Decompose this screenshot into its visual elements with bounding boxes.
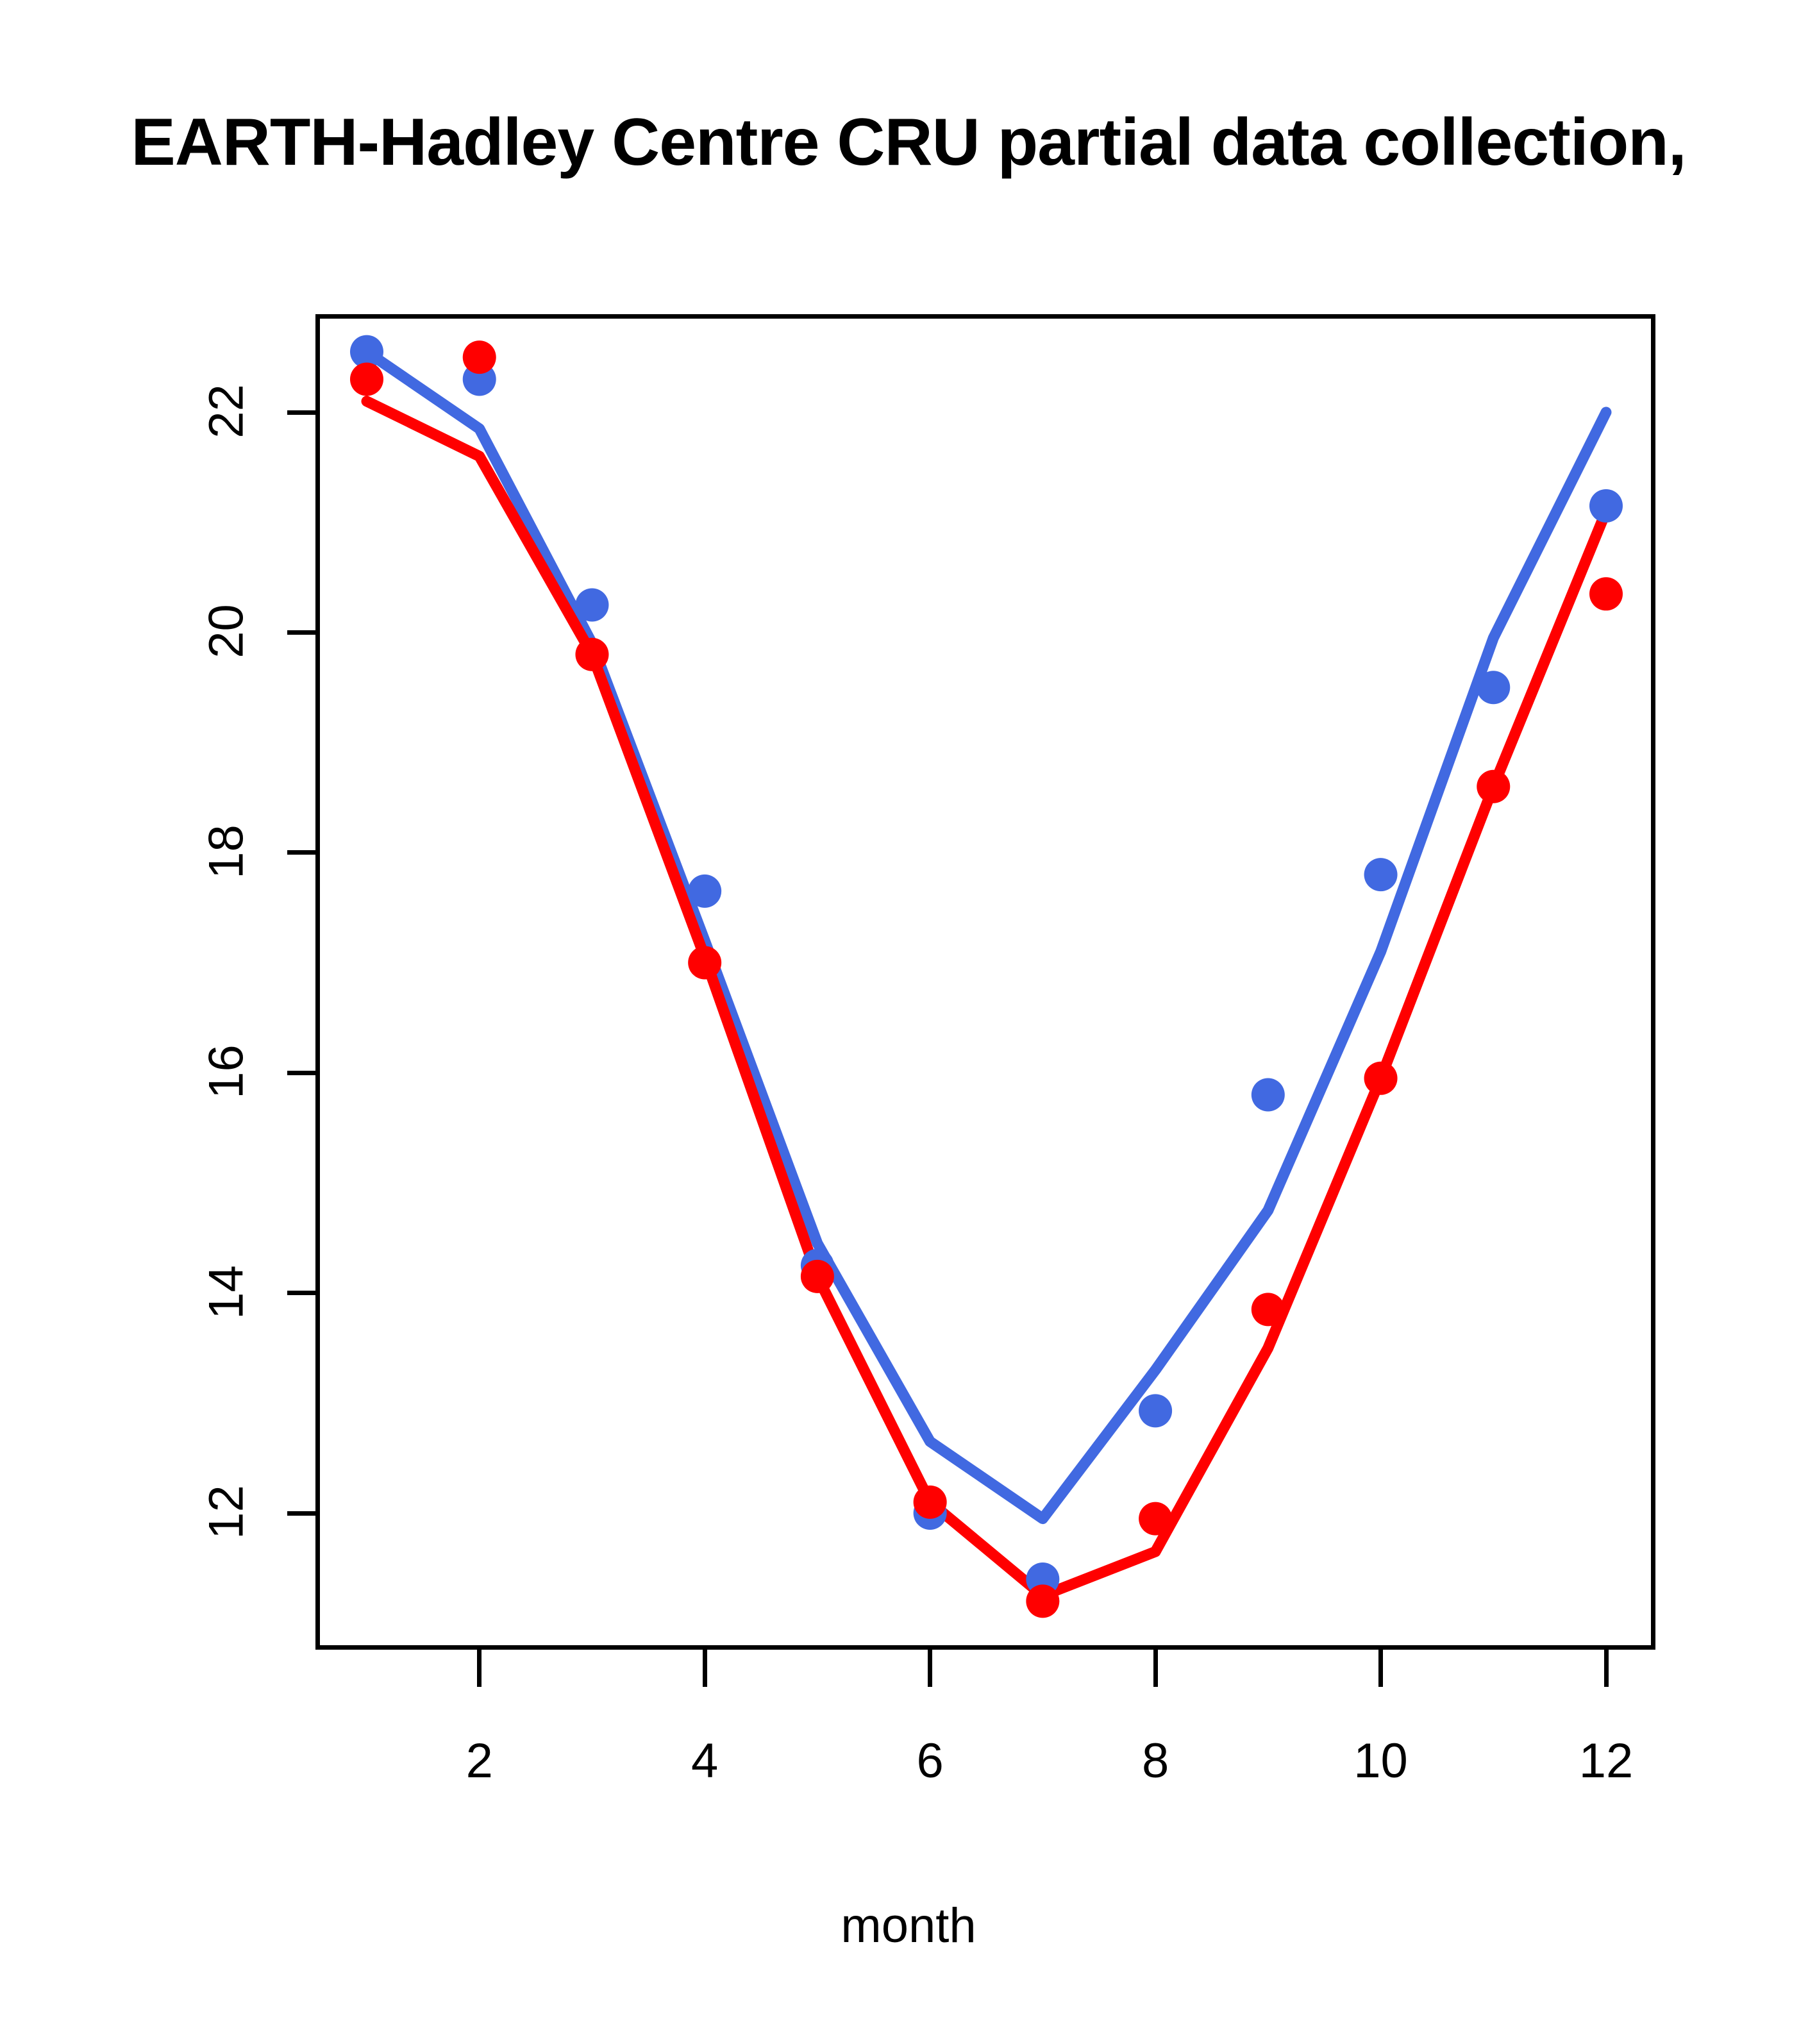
chart-page: EARTH-Hadley Centre CRU partial data col… [0,0,1817,2044]
x-tick-mark [477,1650,481,1687]
y-tick-mark [287,1071,315,1075]
y-tick-label: 22 [199,354,255,469]
y-tick-label: 14 [199,1234,255,1350]
y-tick-label: 18 [199,794,255,909]
plot-frame [315,314,1655,1650]
x-tick-label: 12 [1579,1733,1634,1789]
y-tick-label: 20 [199,574,255,689]
y-tick-mark [287,850,315,855]
y-tick-mark [287,410,315,415]
x-axis-label: month [841,1898,976,1954]
x-tick-label: 4 [691,1733,718,1789]
x-tick-label: 6 [916,1733,943,1789]
x-tick-mark [1378,1650,1383,1687]
x-tick-mark [1604,1650,1609,1687]
x-tick-label: 10 [1353,1733,1408,1789]
x-tick-label: 2 [466,1733,493,1789]
x-tick-mark [1153,1650,1158,1687]
y-tick-mark [287,1291,315,1295]
y-tick-mark [287,630,315,635]
x-tick-mark [703,1650,707,1687]
plot-region: 121416182022 24681012 month [0,0,1817,2044]
x-tick-label: 8 [1142,1733,1169,1789]
y-tick-label: 16 [199,1014,255,1130]
y-tick-label: 12 [199,1455,255,1570]
x-tick-mark [928,1650,932,1687]
y-tick-mark [287,1511,315,1516]
